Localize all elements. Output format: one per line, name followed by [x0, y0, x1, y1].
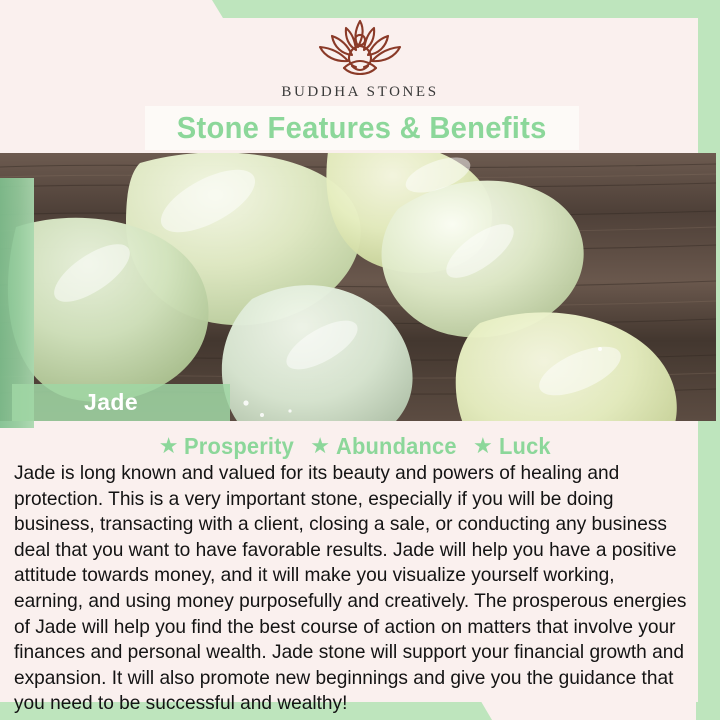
lotus-meditation-figure-icon [294, 16, 426, 82]
brand-name: BUDDHA STONES [281, 84, 438, 101]
page-title: Stone Features & Benefits [177, 110, 547, 146]
benefits-row: ★ Prosperity ★ Abundance ★ Luck [0, 430, 712, 462]
benefit-label: Luck [499, 433, 551, 460]
stone-photo-illustration [0, 153, 716, 421]
benefit-label: Prosperity [184, 433, 294, 460]
star-icon: ★ [310, 435, 330, 457]
infographic-page: BUDDHA STONES Stone Features & Benefits [0, 0, 720, 720]
stone-name-label: Jade [84, 389, 138, 416]
stone-name-banner: Jade [12, 384, 230, 421]
star-icon: ★ [159, 435, 179, 457]
stone-photo [0, 153, 716, 421]
brand-logo: BUDDHA STONES [0, 16, 720, 112]
benefit-item-abundance: ★ Abundance [310, 433, 463, 460]
title-banner: Stone Features & Benefits [145, 106, 579, 150]
star-icon: ★ [473, 435, 493, 457]
benefit-item-luck: ★ Luck [473, 433, 553, 460]
stone-description: Jade is long known and valued for its be… [14, 461, 688, 717]
benefit-label: Abundance [336, 433, 457, 460]
benefit-item-prosperity: ★ Prosperity [159, 433, 301, 460]
